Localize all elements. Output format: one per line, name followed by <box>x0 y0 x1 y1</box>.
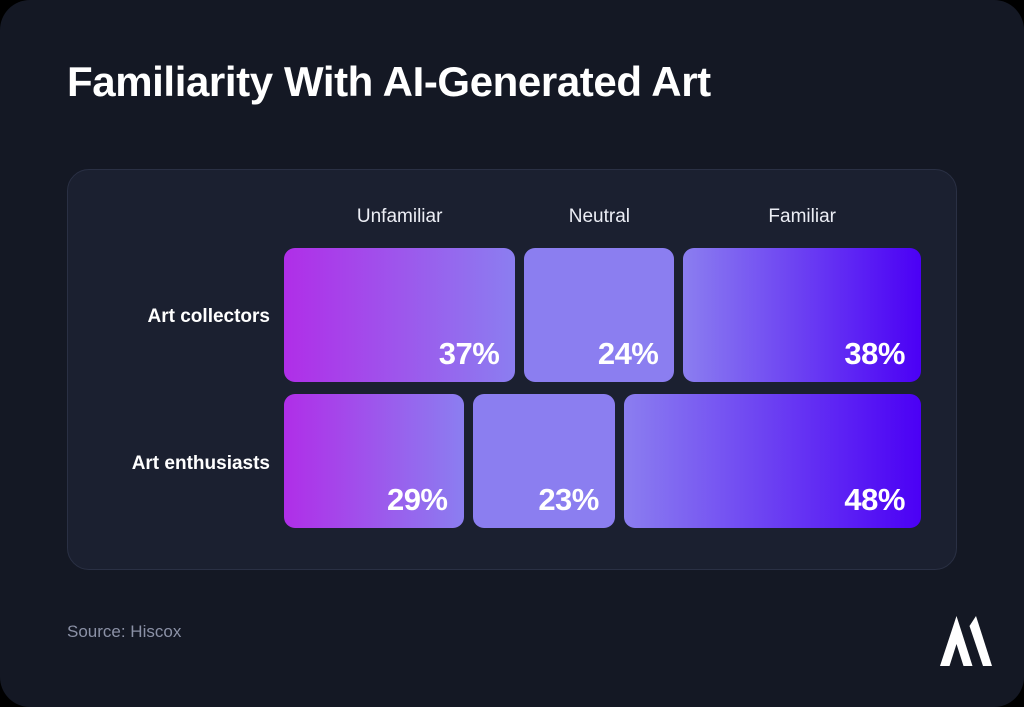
bar-value-label: 48% <box>844 482 905 518</box>
bar-segment-unfamiliar[interactable]: 29% <box>284 394 464 528</box>
mozaik-m-logo-icon <box>936 612 996 670</box>
column-header-familiar: Familiar <box>768 206 836 228</box>
column-header-neutral: Neutral <box>569 206 630 228</box>
page-title: Familiarity With AI-Generated Art <box>67 58 711 106</box>
bar-segment-familiar[interactable]: 38% <box>683 248 921 382</box>
bar-segment-familiar[interactable]: 48% <box>624 394 921 528</box>
stacked-bar-plot: 37% 24% 38% 29% 23% 48% <box>284 248 921 534</box>
bar-row-art-collectors: 37% 24% 38% <box>284 248 921 382</box>
bar-value-label: 24% <box>598 336 659 372</box>
bar-row-art-enthusiasts: 29% 23% 48% <box>284 394 921 528</box>
bar-value-label: 23% <box>538 482 599 518</box>
column-header-unfamiliar: Unfamiliar <box>357 206 443 228</box>
bar-value-label: 29% <box>387 482 448 518</box>
source-caption: Source: Hiscox <box>67 622 181 642</box>
column-header-row: Unfamiliar Neutral Familiar <box>284 206 921 234</box>
bar-segment-unfamiliar[interactable]: 37% <box>284 248 515 382</box>
bar-segment-neutral[interactable]: 24% <box>524 248 674 382</box>
row-label-art-collectors: Art collectors <box>148 306 270 328</box>
bar-value-label: 38% <box>844 336 905 372</box>
row-label-group: Art collectors Art enthusiasts <box>90 248 270 534</box>
infographic-canvas: Familiarity With AI-Generated Art Unfami… <box>0 0 1024 707</box>
row-label-art-enthusiasts: Art enthusiasts <box>132 453 270 475</box>
bar-value-label: 37% <box>439 336 500 372</box>
bar-segment-neutral[interactable]: 23% <box>473 394 615 528</box>
